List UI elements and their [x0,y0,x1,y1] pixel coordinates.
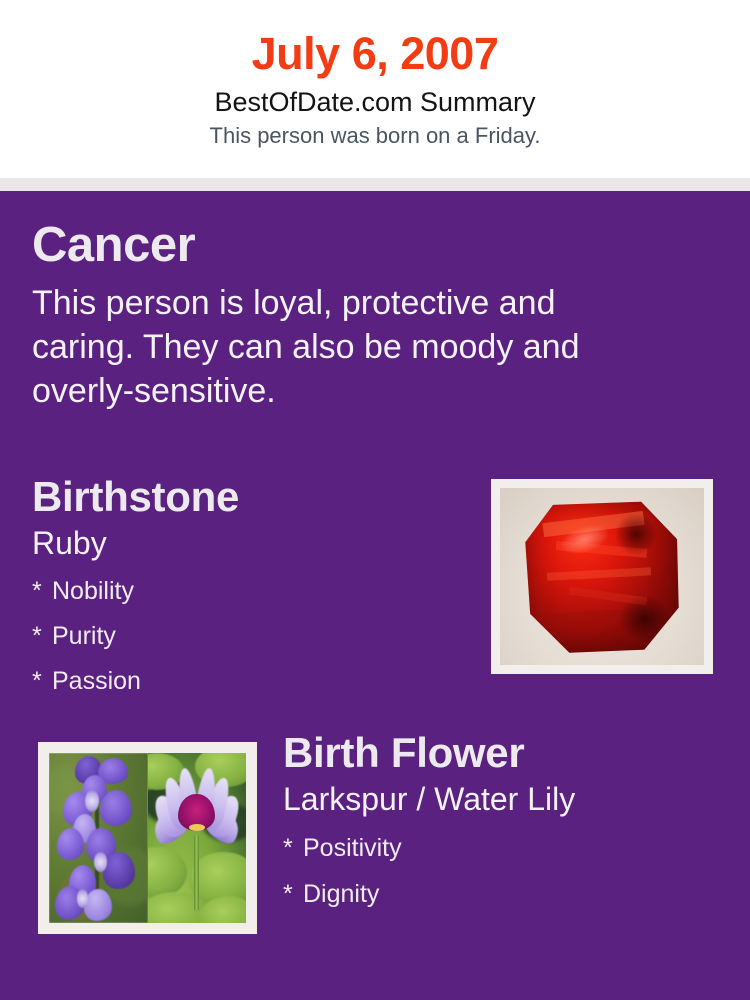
birth-flower-name: Larkspur / Water Lily [283,777,733,819]
water-lily-photo [148,753,247,923]
list-item: *Passion [32,659,462,704]
trait-label: Dignity [303,880,379,908]
birth-flower-photo-frame [38,742,257,934]
list-item: *Purity [32,614,462,659]
ruby-photo [500,488,704,665]
list-item: *Dignity [283,871,733,917]
birthstone-section: Birthstone Ruby *Nobility *Purity *Passi… [32,473,462,704]
trait-label: Passion [52,667,141,695]
birthstone-name: Ruby [32,521,462,563]
flower-photo [49,753,246,923]
day-of-week-note: This person was born on a Friday. [0,118,750,149]
list-item: *Nobility [32,569,462,614]
birth-flower-section: Birth Flower Larkspur / Water Lily *Posi… [283,729,733,917]
ruby-inclusion [615,514,657,554]
bullet-star-icon: * [283,825,303,871]
birthday-summary-card: July 6, 2007 BestOfDate.com Summary This… [0,0,750,1000]
zodiac-description: This person is loyal, protective and car… [32,273,642,413]
larkspur-photo [49,753,148,923]
zodiac-section: Cancer This person is loyal, protective … [32,217,672,413]
larkspur-petal [103,852,135,889]
trait-label: Nobility [52,577,134,605]
page-title: July 6, 2007 [0,0,750,80]
birthstone-heading: Birthstone [32,473,462,521]
bullet-star-icon: * [32,659,52,704]
water-lily-stamen [189,824,205,831]
content-panel: Cancer This person is loyal, protective … [0,191,750,1000]
site-name: BestOfDate.com Summary [0,80,750,118]
larkspur-center [94,852,107,872]
zodiac-sign-name: Cancer [32,217,672,273]
larkspur-petal [57,828,85,860]
birth-flower-heading: Birth Flower [283,729,733,777]
larkspur-center [77,889,89,908]
card-header: July 6, 2007 BestOfDate.com Summary This… [0,0,750,178]
bullet-star-icon: * [32,569,52,614]
trait-label: Purity [52,622,116,650]
header-divider [0,178,750,191]
ruby-facet [546,568,651,581]
trait-label: Positivity [303,834,402,862]
larkspur-petal [84,889,112,921]
birth-flower-trait-list: *Positivity *Dignity [283,819,733,917]
larkspur-petal [100,790,132,826]
bullet-star-icon: * [32,614,52,659]
bullet-star-icon: * [283,871,303,917]
list-item: *Positivity [283,825,733,871]
birthstone-photo-frame [491,479,713,674]
water-lily-stem [194,835,199,912]
birthstone-trait-list: *Nobility *Purity *Passion [32,563,462,704]
